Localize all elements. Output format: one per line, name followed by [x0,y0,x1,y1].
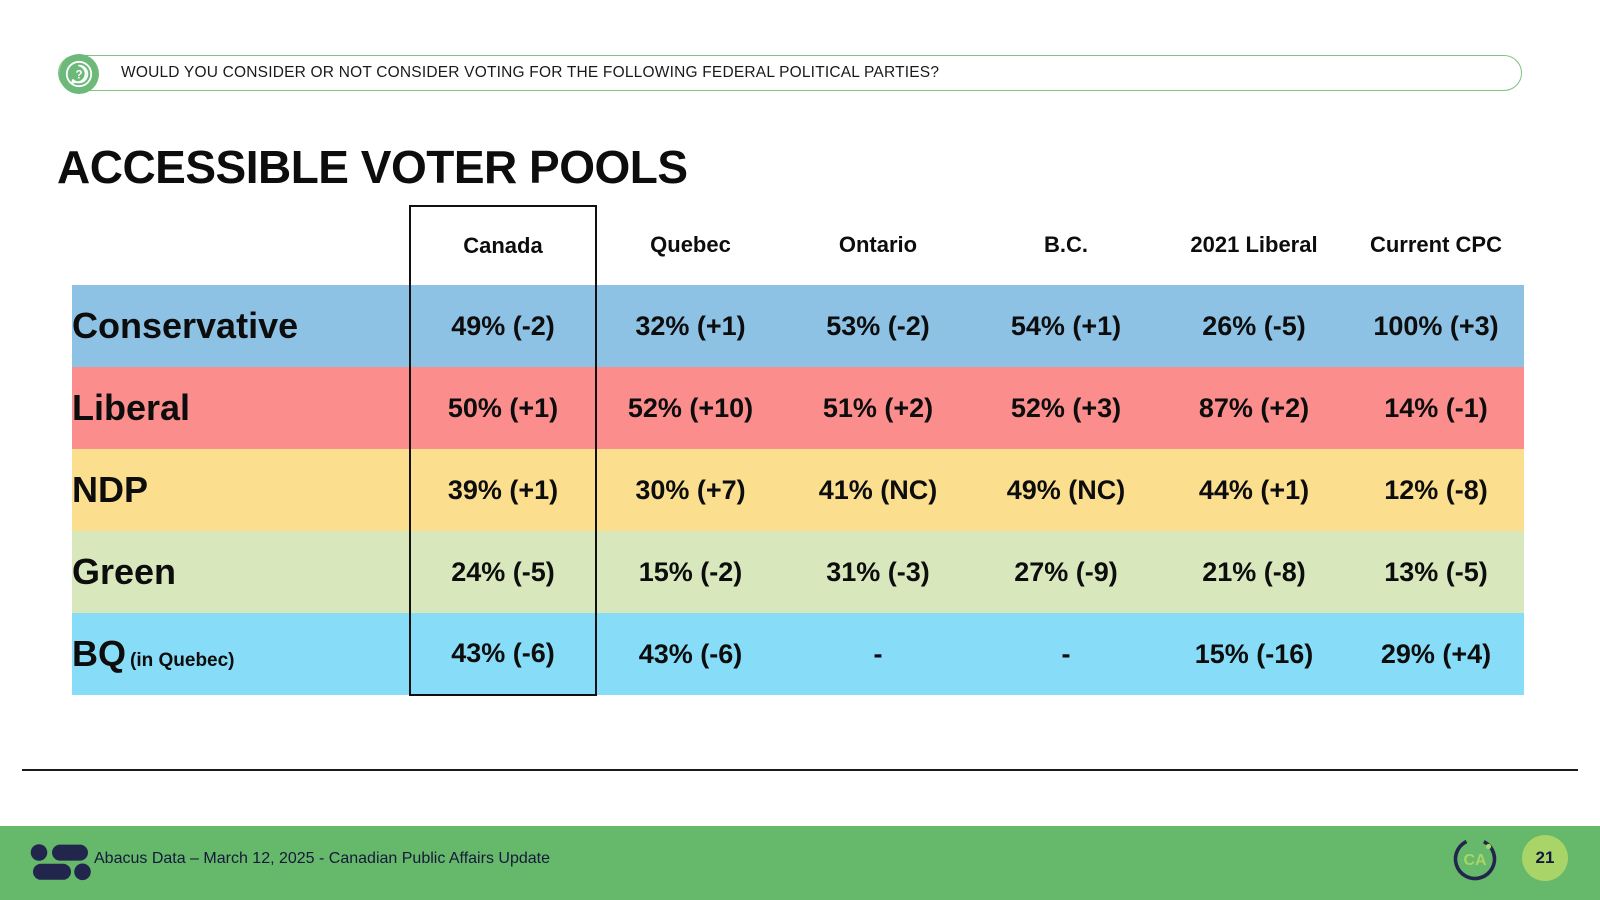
table-cell: 39% (+1) [410,449,596,531]
table-header-quebec: Quebec [596,206,784,285]
party-name: NDP [72,469,148,510]
table-cell: 52% (+3) [972,367,1160,449]
table-header-row: Canada Quebec Ontario B.C. 2021 Liberal … [72,206,1524,285]
table-row: BQ(in Quebec)43% (-6)43% (-6)--15% (-16)… [72,613,1524,695]
table-cell: 12% (-8) [1348,449,1524,531]
table-cell: 44% (+1) [1160,449,1348,531]
question-speech-bubble-icon: ? [59,54,99,94]
table-cell: 14% (-1) [1348,367,1524,449]
svg-text:?: ? [75,69,82,81]
party-name: Liberal [72,387,190,428]
footer-divider [22,769,1578,771]
table-cell: 13% (-5) [1348,531,1524,613]
table-cell: 21% (-8) [1160,531,1348,613]
table-cell: 24% (-5) [410,531,596,613]
party-label-green: Green [72,531,410,613]
table-row: NDP39% (+1)30% (+7)41% (NC)49% (NC)44% (… [72,449,1524,531]
table-header-current-cpc: Current CPC [1348,206,1524,285]
page-title: ACCESSIBLE VOTER POOLS [57,140,688,194]
party-label-conservative: Conservative [72,285,410,367]
table-cell: 52% (+10) [596,367,784,449]
question-banner: WOULD YOU CONSIDER OR NOT CONSIDER VOTIN… [58,55,1522,91]
table-header-canada: Canada [410,206,596,285]
table-header-ontario: Ontario [784,206,972,285]
table-header-bc: B.C. [972,206,1160,285]
table-cell: 29% (+4) [1348,613,1524,695]
table-cell: 54% (+1) [972,285,1160,367]
accessible-voter-pools-table: Canada Quebec Ontario B.C. 2021 Liberal … [72,205,1525,696]
table-cell: 50% (+1) [410,367,596,449]
table-header-blank [72,206,410,285]
table-cell: 15% (-16) [1160,613,1348,695]
party-name: Green [72,551,176,592]
question-text: WOULD YOU CONSIDER OR NOT CONSIDER VOTIN… [121,64,939,82]
table-cell: 49% (NC) [972,449,1160,531]
table-row: Liberal50% (+1)52% (+10)51% (+2)52% (+3)… [72,367,1524,449]
table-cell: 30% (+7) [596,449,784,531]
table-row: Green24% (-5)15% (-2)31% (-3)27% (-9)21%… [72,531,1524,613]
table-cell: 53% (-2) [784,285,972,367]
party-name: Conservative [72,305,298,346]
table-cell: 100% (+3) [1348,285,1524,367]
ca-badge-icon: CA [1450,833,1500,883]
table-cell: 31% (-3) [784,531,972,613]
party-label-ndp: NDP [72,449,410,531]
table-cell: - [972,613,1160,695]
table-cell: - [784,613,972,695]
party-name: BQ [72,633,126,674]
table-header-2021-liberal: 2021 Liberal [1160,206,1348,285]
footer-text: Abacus Data – March 12, 2025 - Canadian … [94,850,550,868]
party-label-liberal: Liberal [72,367,410,449]
table-cell: 51% (+2) [784,367,972,449]
table-cell: 41% (NC) [784,449,972,531]
table-body: Conservative49% (-2)32% (+1)53% (-2)54% … [72,285,1524,695]
table-cell: 49% (-2) [410,285,596,367]
page-number-badge: 21 [1522,835,1568,881]
table-cell: 87% (+2) [1160,367,1348,449]
table-cell: 15% (-2) [596,531,784,613]
table-cell: 32% (+1) [596,285,784,367]
svg-text:CA: CA [1463,852,1487,869]
table-cell: 43% (-6) [410,613,596,695]
party-label-bq: BQ(in Quebec) [72,613,410,695]
party-name-suffix: (in Quebec) [130,650,235,671]
abacus-logo-icon [30,843,92,881]
table-row: Conservative49% (-2)32% (+1)53% (-2)54% … [72,285,1524,367]
table-cell: 26% (-5) [1160,285,1348,367]
table-cell: 27% (-9) [972,531,1160,613]
table-cell: 43% (-6) [596,613,784,695]
